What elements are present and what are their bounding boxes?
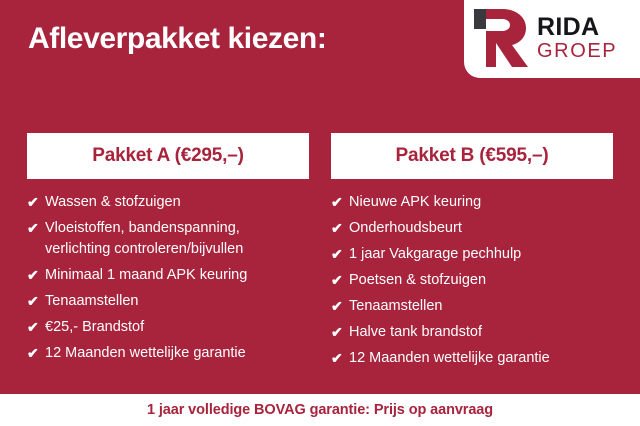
feature-label: Tenaamstellen	[349, 296, 613, 317]
check-icon: ✔	[27, 317, 45, 337]
list-item: ✔Halve tank brandstof	[331, 322, 613, 343]
afleverpakket-poster: Afleverpakket kiezen: RIDA GROEP Pakket …	[0, 0, 640, 426]
list-item: ✔Wassen & stofzuigen	[27, 192, 309, 213]
package-b-header[interactable]: Pakket B (€595,–)	[331, 133, 613, 179]
package-columns: Pakket A (€295,–) ✔Wassen & stofzuigen✔V…	[0, 133, 640, 374]
package-column-b: Pakket B (€595,–) ✔Nieuwe APK keuring✔On…	[331, 133, 613, 374]
brand-logo-panel: RIDA GROEP	[464, 0, 640, 78]
feature-label: Poetsen & stofzuigen	[349, 270, 613, 291]
check-icon: ✔	[331, 192, 349, 212]
list-item: ✔Poetsen & stofzuigen	[331, 270, 613, 291]
brand-name-primary: RIDA	[537, 15, 617, 40]
check-icon: ✔	[27, 192, 45, 212]
check-icon: ✔	[331, 270, 349, 290]
brand-name-secondary: GROEP	[537, 41, 617, 61]
feature-label: Wassen & stofzuigen	[45, 192, 309, 213]
feature-label: Nieuwe APK keuring	[349, 192, 613, 213]
check-icon: ✔	[27, 291, 45, 311]
check-icon: ✔	[331, 218, 349, 238]
check-icon: ✔	[27, 343, 45, 363]
feature-label: Tenaamstellen	[45, 291, 309, 312]
package-a-header[interactable]: Pakket A (€295,–)	[27, 133, 309, 179]
check-icon: ✔	[331, 244, 349, 264]
list-item: ✔Onderhoudsbeurt	[331, 218, 613, 239]
package-b-feature-list: ✔Nieuwe APK keuring✔Onderhoudsbeurt✔1 ja…	[331, 192, 613, 369]
feature-label: 12 Maanden wettelijke garantie	[45, 343, 309, 364]
check-icon: ✔	[331, 322, 349, 342]
list-item: ✔Nieuwe APK keuring	[331, 192, 613, 213]
check-icon: ✔	[331, 348, 349, 368]
package-a-feature-list: ✔Wassen & stofzuigen✔Vloeistoffen, bande…	[27, 192, 309, 364]
feature-label: €25,- Brandstof	[45, 317, 309, 338]
list-item: ✔Vloeistoffen, bandenspanning, verlichti…	[27, 218, 309, 260]
check-icon: ✔	[331, 296, 349, 316]
footer-guarantee-text: 1 jaar volledige BOVAG garantie: Prijs o…	[147, 402, 493, 418]
feature-label: 12 Maanden wettelijke garantie	[349, 348, 613, 369]
feature-label: Onderhoudsbeurt	[349, 218, 613, 239]
package-b-title: Pakket B (€595,–)	[396, 145, 549, 167]
footer-bar: 1 jaar volledige BOVAG garantie: Prijs o…	[0, 394, 640, 426]
list-item: ✔€25,- Brandstof	[27, 317, 309, 338]
rida-r-logo-icon	[472, 7, 530, 69]
list-item: ✔1 jaar Vakgarage pechhulp	[331, 244, 613, 265]
list-item: ✔12 Maanden wettelijke garantie	[331, 348, 613, 369]
feature-label: Halve tank brandstof	[349, 322, 613, 343]
list-item: ✔12 Maanden wettelijke garantie	[27, 343, 309, 364]
feature-label: 1 jaar Vakgarage pechhulp	[349, 244, 613, 265]
package-column-a: Pakket A (€295,–) ✔Wassen & stofzuigen✔V…	[27, 133, 309, 374]
brand-wordmark: RIDA GROEP	[537, 15, 617, 61]
check-icon: ✔	[27, 218, 45, 238]
feature-label: Vloeistoffen, bandenspanning, verlichtin…	[45, 218, 309, 260]
package-a-title: Pakket A (€295,–)	[92, 145, 244, 167]
check-icon: ✔	[27, 265, 45, 285]
list-item: ✔Minimaal 1 maand APK keuring	[27, 265, 309, 286]
list-item: ✔Tenaamstellen	[27, 291, 309, 312]
feature-label: Minimaal 1 maand APK keuring	[45, 265, 309, 286]
list-item: ✔Tenaamstellen	[331, 296, 613, 317]
page-title: Afleverpakket kiezen:	[28, 22, 326, 56]
poster-header: Afleverpakket kiezen: RIDA GROEP	[0, 0, 640, 100]
